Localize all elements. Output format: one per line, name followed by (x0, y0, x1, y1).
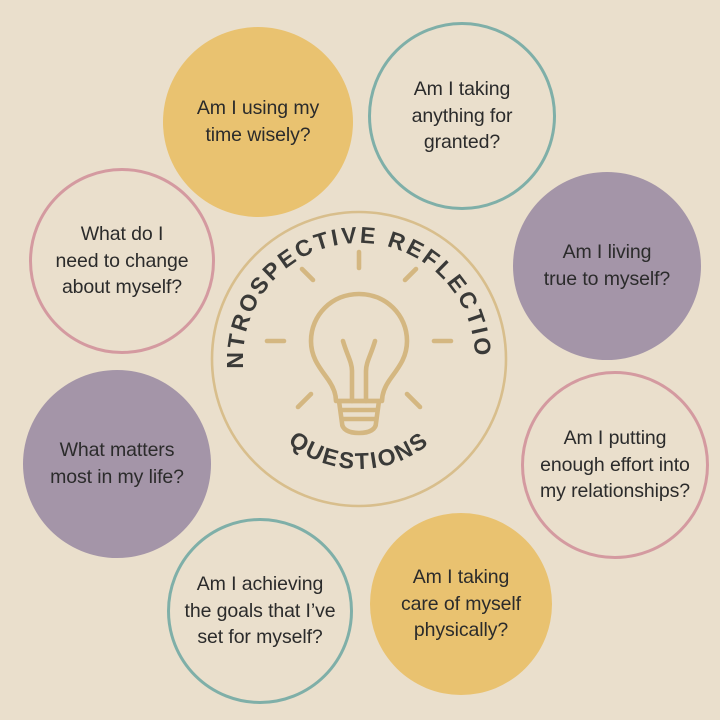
question-bubble-need-to-change: What do I need to change about myself? (29, 168, 215, 354)
question-text-living-true: Am I living true to myself? (530, 239, 684, 293)
question-text-taking-for-granted: Am I taking anything for granted? (398, 76, 527, 157)
question-bubble-taking-for-granted: Am I taking anything for granted? (368, 22, 556, 210)
question-bubble-time-wisely: Am I using my time wisely? (163, 27, 353, 217)
question-text-time-wisely: Am I using my time wisely? (183, 95, 333, 149)
question-text-need-to-change: What do I need to change about myself? (41, 221, 202, 302)
question-bubble-what-matters: What matters most in my life? (23, 370, 211, 558)
question-bubble-achieving-goals: Am I achieving the goals that I’ve set f… (167, 518, 353, 704)
question-text-effort-relationships: Am I putting enough effort into my relat… (526, 425, 704, 506)
center-badge: INTROSPECTIVE REFLECTION QUESTIONS (210, 210, 508, 508)
lightbulb-icon (267, 252, 451, 433)
question-text-achieving-goals: Am I achieving the goals that I’ve set f… (171, 571, 350, 652)
question-bubble-living-true: Am I living true to myself? (513, 172, 701, 360)
question-text-what-matters: What matters most in my life? (36, 437, 198, 491)
infographic-canvas: Am I using my time wisely? Am I taking a… (0, 0, 720, 720)
question-text-care-physically: Am I taking care of myself physically? (387, 564, 535, 645)
question-bubble-care-physically: Am I taking care of myself physically? (370, 513, 552, 695)
question-bubble-effort-relationships: Am I putting enough effort into my relat… (521, 371, 709, 559)
badge-arc-top-text: INTROSPECTIVE REFLECTION (210, 210, 496, 369)
